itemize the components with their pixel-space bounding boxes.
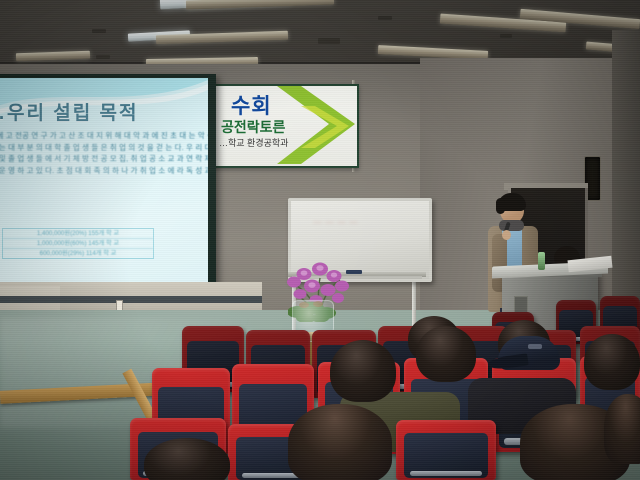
- seat-trim: [410, 471, 482, 476]
- ceiling-vent: [500, 34, 512, 38]
- audience-head-mid-far-right: [604, 394, 640, 464]
- slide-table-row: 1,000,000원(60%) 145개 학 교: [3, 239, 153, 249]
- slide-title: …우리 설립 목적: [0, 98, 138, 125]
- slide-body: …업에 고 전공 연 구 가 고 산 조 대 지 위 해 대 악 과 에 진 초…: [0, 130, 208, 176]
- water-bottle: [538, 252, 545, 270]
- banner-title: 수회: [231, 90, 272, 120]
- slide-table-row: 1,400,000원(20%) 155개 학 교: [3, 229, 153, 239]
- audience-head-mid-center: [416, 326, 476, 382]
- audience-head-with-cap: [498, 336, 560, 370]
- banner-subtitle: 공전락토른: [221, 117, 285, 137]
- presenter-scarf: [499, 220, 524, 231]
- stage-baseboard: [0, 296, 262, 303]
- head: [288, 404, 392, 480]
- whiteboard-writing: …………: [313, 215, 409, 227]
- audience-head-front-center: [288, 404, 392, 480]
- ceiling-vent: [96, 55, 110, 59]
- audience-head-mid-left: [330, 340, 396, 402]
- slide-table-row: 600,000원(29%) 114개 학 교: [3, 249, 153, 258]
- ceiling-vent: [92, 29, 106, 33]
- head: [144, 438, 230, 480]
- head: [416, 326, 476, 382]
- cap-logo: [528, 344, 542, 349]
- head: [604, 394, 640, 464]
- seat: [396, 420, 496, 480]
- ceiling-vent: [378, 16, 392, 20]
- slide-table: 1,400,000원(20%) 155개 학 교 1,000,000원(60%)…: [2, 228, 154, 259]
- audience-head-front-left: [144, 438, 230, 480]
- slide-body-line: …고 는 대 부 분 의 대 학 졸 업 생 들 은 취 업 의 것 을 걷 는…: [0, 142, 208, 154]
- slide-body-line: …행 및 졸 업 생 들 에 서 기 체 방 전 공 모 집, 취 업 공 소 …: [0, 153, 208, 165]
- presenter-hand: [502, 230, 511, 240]
- event-banner: 수회 공전락토른 …학교 환경공학과: [205, 84, 359, 168]
- slide-body-line: …업에 고 전공 연 구 가 고 산 조 대 지 위 해 대 악 과 에 진 초…: [0, 130, 208, 142]
- banner-department: …학교 환경공학과: [219, 136, 288, 149]
- head: [584, 334, 640, 390]
- photo-scene: 수회 공전락토른 …학교 환경공학과 …우리 설립 목적 …업에 고 전공 연 …: [0, 0, 640, 480]
- ceiling-vent: [318, 38, 340, 44]
- head: [330, 340, 396, 402]
- presenter-hair-side: [496, 198, 505, 214]
- projection-screen: …우리 설립 목적 …업에 고 전공 연 구 가 고 산 조 대 지 위 해 대…: [0, 78, 208, 290]
- slide-body-line: …로 운 영 하 고 있 다. 초 점 대 회 족 의 하 나 가 취 업 소 …: [0, 165, 208, 177]
- audience-head-mid-right: [584, 334, 640, 390]
